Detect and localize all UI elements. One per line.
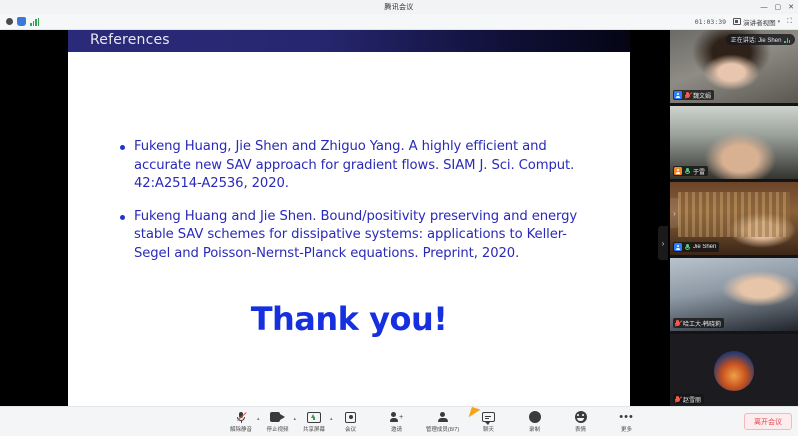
toolbar-buttons: 解除静音 ▴ 停止视频 ▴ 共享屏幕 ▴ 会议 — [218, 407, 650, 436]
host-icon — [674, 243, 682, 251]
share-screen-icon — [307, 411, 321, 424]
emoji-icon — [575, 411, 587, 424]
participant-name: 于雷 — [693, 167, 705, 176]
participant-name: 哈工大-韩晓莉 — [683, 319, 721, 328]
window-controls: — ▢ ✕ — [761, 0, 795, 14]
meeting-status-icons — [0, 17, 39, 26]
toolbar-label: 录制 — [529, 425, 540, 433]
slide-header-bar: References — [68, 30, 630, 52]
app-title: 腾讯会议 — [384, 2, 413, 12]
reference-text: Fukeng Huang and Jie Shen. Bound/positiv… — [134, 208, 590, 264]
window-title-bar: 腾讯会议 — ▢ ✕ — [0, 0, 798, 14]
participant-badge: 魏文娟 — [673, 90, 714, 100]
video-tile-active-speaker[interactable]: Jie Shen — [670, 182, 798, 255]
host-icon — [674, 91, 682, 99]
close-icon[interactable]: ✕ — [788, 4, 794, 11]
bullet-icon — [120, 145, 125, 150]
camera-icon — [270, 411, 285, 424]
bullet-icon — [120, 215, 125, 220]
video-tile[interactable]: 于雷 — [670, 106, 798, 179]
list-item: Fukeng Huang and Jie Shen. Bound/positiv… — [120, 208, 590, 264]
reference-list: Fukeng Huang, Jie Shen and Zhiguo Yang. … — [120, 138, 590, 277]
recording-icon — [529, 411, 541, 424]
meeting-info-right: 01:03:39 演讲者视图 ▾ ⛶ — [695, 17, 798, 27]
participant-video-rail: 正在讲话: Jie Shen 魏文娟 于雷 Jie — [670, 30, 798, 406]
audio-wave-icon — [784, 37, 790, 43]
fullscreen-icon[interactable]: ⛶ — [787, 18, 792, 26]
toolbar-label: 邀请 — [391, 425, 402, 433]
lock-icon[interactable] — [6, 18, 13, 25]
maximize-icon[interactable]: ▢ — [775, 4, 782, 11]
rail-collapse-arrow[interactable]: › — [670, 198, 679, 228]
emoji-button[interactable]: 表情 — [558, 407, 604, 436]
toolbar-label: 会议 — [345, 425, 356, 433]
avatar — [714, 351, 754, 391]
participant-name: 魏文娟 — [693, 91, 711, 100]
meeting-button[interactable]: 会议 — [328, 407, 374, 436]
microphone-icon — [684, 167, 691, 175]
toolbar-label: 表情 — [575, 425, 586, 433]
video-tile[interactable]: 赵雪丽 — [670, 334, 798, 407]
more-button[interactable]: ••• 更多 — [604, 407, 650, 436]
participant-name: Jie Shen — [693, 244, 716, 250]
invite-button[interactable]: + 邀请 — [374, 407, 420, 436]
leave-meeting-button[interactable]: 离开会议 — [744, 413, 792, 430]
microphone-muted-icon — [674, 395, 681, 403]
toolbar-label: 更多 — [621, 425, 632, 433]
record-icon — [345, 411, 356, 424]
tencent-meeting-window: 腾讯会议 — ▢ ✕ 01:03:39 演讲者视图 ▾ ⛶ References — [0, 0, 798, 436]
microphone-muted-icon — [684, 91, 691, 99]
slide-title: References — [68, 32, 170, 48]
participant-badge: 于雷 — [673, 166, 708, 176]
speaker-view-icon — [733, 18, 741, 25]
signal-strength-icon[interactable] — [30, 18, 39, 26]
bookshelf-background — [678, 192, 791, 237]
elapsed-timer: 01:03:39 — [695, 18, 726, 26]
microphone-muted-icon — [237, 411, 246, 424]
reference-text: Fukeng Huang, Jie Shen and Zhiguo Yang. … — [134, 138, 590, 194]
more-icon: ••• — [619, 411, 634, 424]
toolbar-label: 解除静音 — [230, 425, 252, 433]
closing-message: Thank you! — [68, 300, 630, 338]
toolbar-label: 共享屏幕 — [303, 425, 325, 433]
invite-icon: + — [390, 411, 403, 424]
participant-name: 赵雪丽 — [683, 395, 701, 404]
shield-icon[interactable] — [17, 17, 26, 26]
list-item: Fukeng Huang, Jie Shen and Zhiguo Yang. … — [120, 138, 590, 194]
toolbar-label: 停止视频 — [267, 425, 289, 433]
video-tile[interactable]: 哈工大-韩晓莉 — [670, 258, 798, 331]
cohost-icon — [674, 167, 682, 175]
presentation-slide: References Fukeng Huang, Jie Shen and Zh… — [68, 30, 630, 406]
shared-screen-stage: References Fukeng Huang, Jie Shen and Zh… — [0, 30, 670, 406]
minimize-icon[interactable]: — — [761, 4, 768, 11]
microphone-muted-icon — [674, 319, 681, 327]
chat-icon — [482, 411, 495, 424]
active-speaker-label: 正在讲话: Jie Shen — [731, 35, 782, 44]
manage-participants-button[interactable]: 管理成员(8/7) — [420, 407, 466, 436]
slide-body: Fukeng Huang, Jie Shen and Zhiguo Yang. … — [68, 52, 630, 406]
meeting-info-bar: 01:03:39 演讲者视图 ▾ ⛶ — [0, 14, 798, 30]
active-speaker-badge: 正在讲话: Jie Shen — [726, 34, 795, 45]
recording-button[interactable]: 录制 — [512, 407, 558, 436]
participants-icon — [437, 411, 449, 424]
view-mode-selector[interactable]: 演讲者视图 ▾ — [733, 17, 780, 27]
toolbar-label: 聊天 — [483, 425, 494, 433]
microphone-icon — [684, 243, 691, 251]
stage-next-arrow[interactable]: › — [658, 226, 668, 260]
chevron-down-icon: ▾ — [778, 19, 781, 25]
participant-badge: 赵雪丽 — [673, 394, 704, 404]
participant-badge: Jie Shen — [673, 242, 719, 252]
meeting-toolbar: 解除静音 ▴ 停止视频 ▴ 共享屏幕 ▴ 会议 — [0, 406, 798, 436]
participant-badge: 哈工大-韩晓莉 — [673, 318, 724, 328]
toolbar-label: 管理成员(8/7) — [426, 425, 459, 433]
view-mode-label: 演讲者视图 — [743, 17, 776, 27]
